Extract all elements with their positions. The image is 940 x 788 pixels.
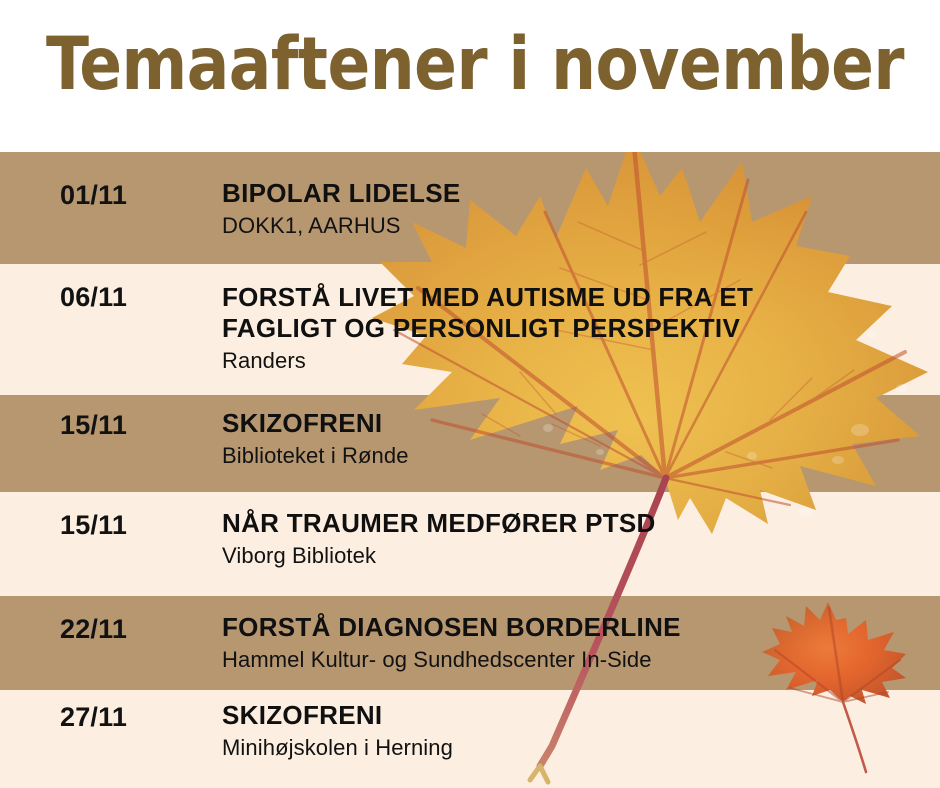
event-location: Biblioteket i Rønde [222,442,922,470]
event-title: SKIZOFRENI [222,408,922,439]
event-date: 06/11 [60,282,127,313]
page-title: Temaaftener i november [46,28,904,101]
event-title: FORSTÅ LIVET MED AUTISME UD FRA ET FAGLI… [222,282,922,344]
event-title: BIPOLAR LIDELSE [222,178,922,209]
event-body: NÅR TRAUMER MEDFØRER PTSDViborg Bibliote… [222,508,922,569]
event-date: 22/11 [60,614,127,645]
poster-canvas: Temaaftener i november 01/11BIPOLAR LIDE… [0,0,940,788]
event-date: 27/11 [60,702,127,733]
event-location: Viborg Bibliotek [222,542,922,570]
event-title: SKIZOFRENI [222,700,922,731]
event-body: BIPOLAR LIDELSEDOKK1, AARHUS [222,178,922,239]
poster-header: Temaaftener i november [0,0,940,152]
event-location: Minihøjskolen i Herning [222,734,922,762]
event-body: FORSTÅ DIAGNOSEN BORDERLINEHammel Kultur… [222,612,922,673]
event-body: SKIZOFRENIBiblioteket i Rønde [222,408,922,469]
event-title: NÅR TRAUMER MEDFØRER PTSD [222,508,922,539]
event-date: 15/11 [60,410,127,441]
event-date: 01/11 [60,180,127,211]
event-body: FORSTÅ LIVET MED AUTISME UD FRA ET FAGLI… [222,282,922,374]
event-date: 15/11 [60,510,127,541]
event-body: SKIZOFRENIMinihøjskolen i Herning [222,700,922,761]
event-location: Hammel Kultur- og Sundhedscenter In-Side [222,646,922,674]
event-location: DOKK1, AARHUS [222,212,922,240]
event-location: Randers [222,347,922,375]
event-title: FORSTÅ DIAGNOSEN BORDERLINE [222,612,922,643]
